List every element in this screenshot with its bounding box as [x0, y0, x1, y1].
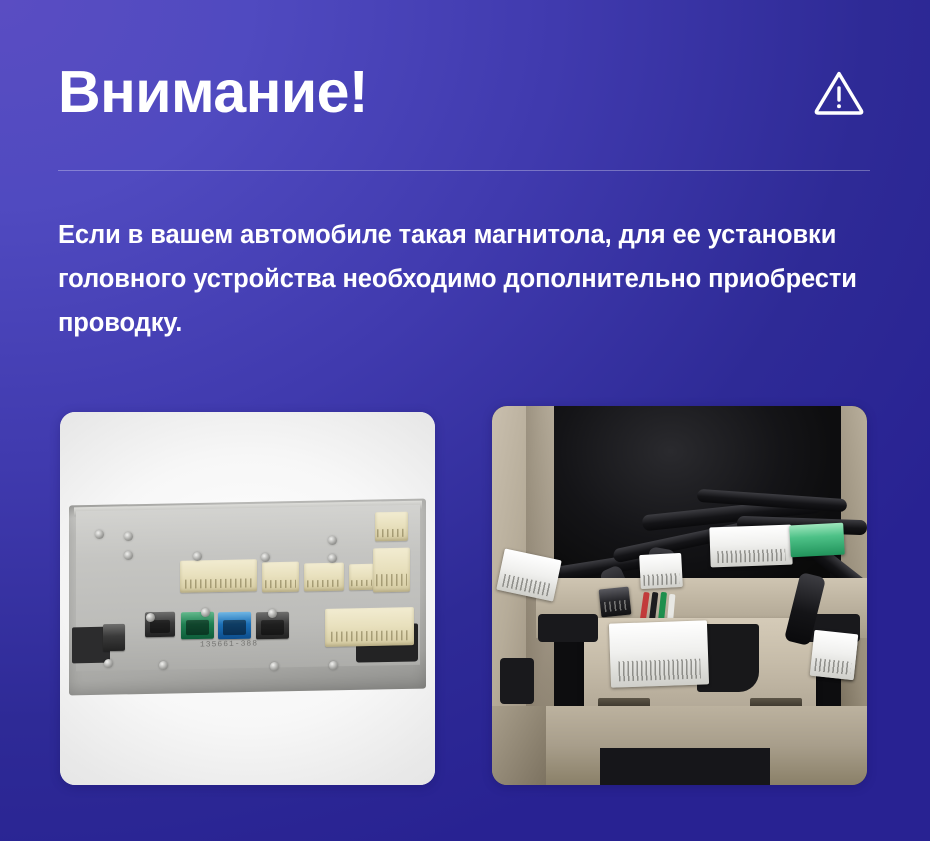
- head-unit-rear-photo[interactable]: 135661-388: [60, 412, 435, 785]
- part-number-label: 135661-388: [200, 639, 258, 649]
- dash-harness-image: [492, 406, 867, 785]
- header: Внимание!: [58, 52, 870, 132]
- warning-slide: Внимание! Если в вашем автомобиле такая …: [0, 0, 930, 841]
- warning-body-text: Если в вашем автомобиле такая магнитола,…: [58, 213, 876, 345]
- page-title: Внимание!: [58, 63, 368, 122]
- header-divider: [58, 170, 870, 171]
- head-unit-rear-image: 135661-388: [60, 412, 435, 785]
- warning-triangle-icon: [812, 65, 866, 119]
- dash-harness-photo[interactable]: [492, 406, 867, 785]
